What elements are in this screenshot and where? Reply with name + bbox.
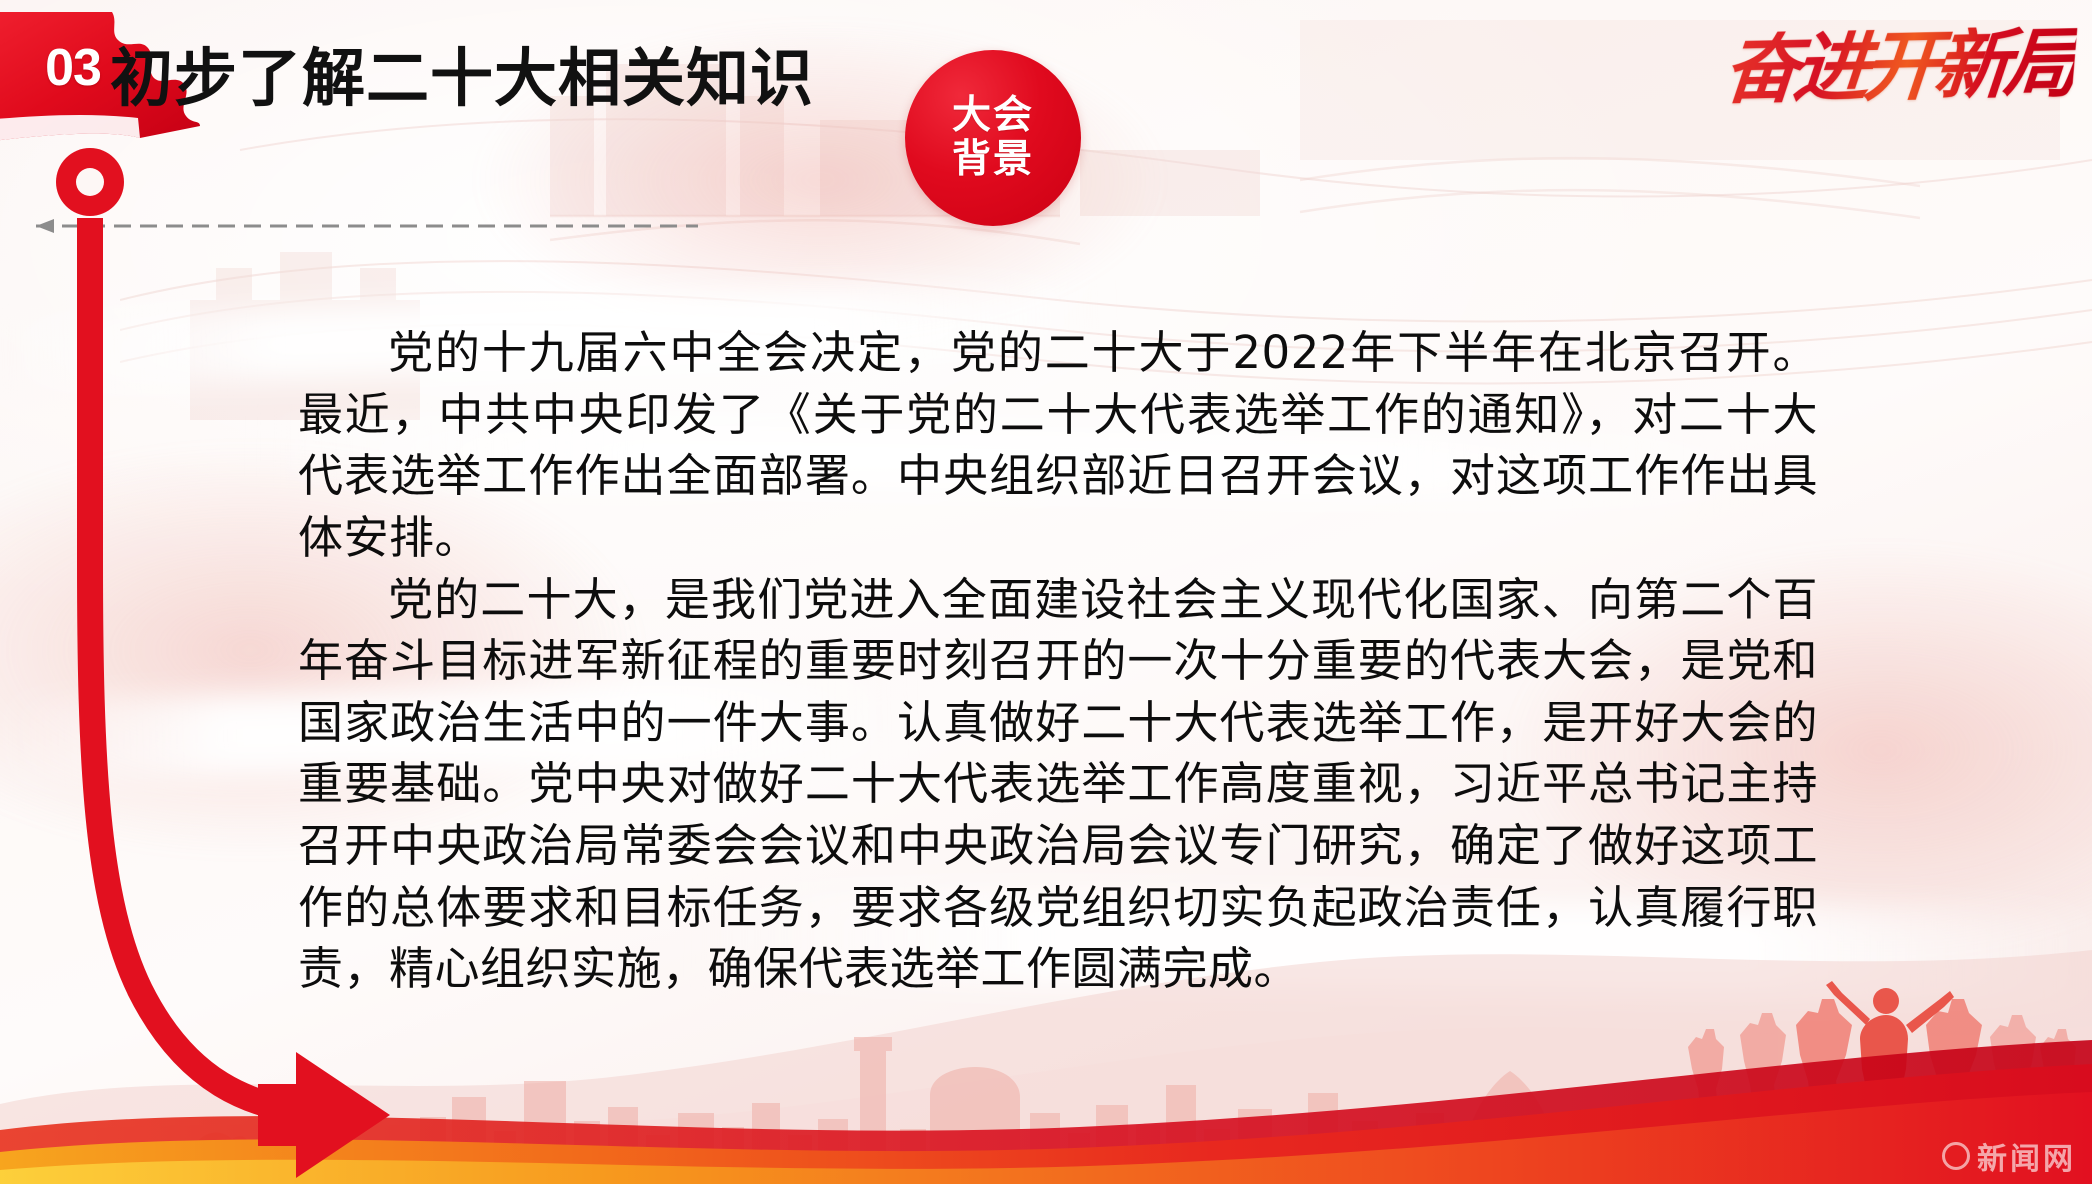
paragraph: 党的十九届六中全会决定，党的二十大于2022年下半年在北京召开。最近，中共中央印…: [298, 322, 1818, 569]
running-figures-icon: [1662, 977, 2092, 1142]
topic-badge-line1: 大会: [952, 94, 1034, 138]
topic-badge: 大会 背景: [905, 50, 1081, 226]
brand-logo: 奋进开新局: [1696, 14, 2074, 120]
topic-badge-line2: 背景: [952, 138, 1034, 182]
slide-canvas: 03 初步了解二十大相关知识 大会 背景 奋进开新局 党的十九届六中全会决定，党…: [0, 0, 2092, 1184]
bottom-ribbon: [0, 1034, 2092, 1184]
body-text-block: 党的十九届六中全会决定，党的二十大于2022年下半年在北京召开。最近，中共中央印…: [298, 322, 1818, 1000]
brand-logo-text: 奋进开新局: [1720, 25, 2077, 108]
watermark-text: 新闻网: [1977, 1134, 2076, 1178]
city-skyline-icon: [0, 1009, 2092, 1184]
paragraph: 党的二十大，是我们党进入全面建设社会主义现代化国家、向第二个百年奋斗目标进军新征…: [298, 569, 1818, 1000]
watermark-ring-icon: [1942, 1142, 1970, 1170]
site-watermark: 新闻网: [1942, 1134, 2076, 1178]
page-title: 初步了解二十大相关知识: [110, 28, 814, 119]
dashed-leader-line: [18, 218, 698, 234]
